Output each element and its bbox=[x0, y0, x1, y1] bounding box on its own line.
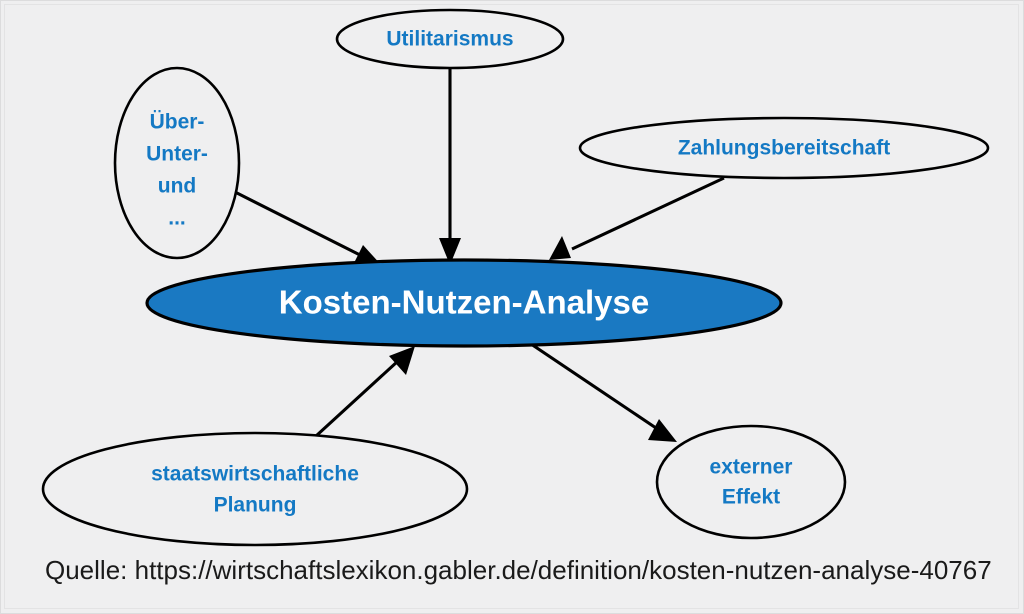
node-externer-effekt[interactable]: externer Effekt bbox=[657, 426, 845, 538]
node-externer-effekt-label-line2: Effekt bbox=[722, 486, 780, 509]
edge-line-zahlungsbereitschaft bbox=[572, 178, 724, 249]
edge-center-to-externer-effekt bbox=[531, 344, 677, 442]
node-ueber-unter-und-label-line1: Über- bbox=[150, 111, 205, 134]
node-kosten-nutzen-analyse[interactable]: Kosten-Nutzen-Analyse bbox=[147, 260, 781, 346]
node-utilitarismus[interactable]: Utilitarismus bbox=[337, 10, 563, 68]
node-staatswirtschaftliche-planung-label-line1: staatswirtschaftliche bbox=[151, 463, 359, 486]
node-externer-effekt-label-line1: externer bbox=[710, 456, 793, 479]
node-externer-effekt-shape[interactable] bbox=[657, 426, 845, 538]
edge-line-ueber-unter bbox=[233, 191, 362, 256]
node-staatswirtschaftliche-planung-shape[interactable] bbox=[43, 433, 467, 545]
node-ueber-unter-und-label-line4: ... bbox=[168, 207, 186, 230]
node-utilitarismus-label: Utilitarismus bbox=[386, 28, 513, 51]
node-staatswirtschaftliche-planung[interactable]: staatswirtschaftliche Planung bbox=[43, 433, 467, 545]
arrowhead-externer-effekt bbox=[648, 419, 677, 442]
node-zahlungsbereitschaft-label: Zahlungsbereitschaft bbox=[678, 137, 890, 160]
node-ueber-unter-und[interactable]: Über- Unter- und ... bbox=[115, 68, 239, 258]
source-caption: Quelle: https://wirtschaftslexikon.gable… bbox=[45, 555, 992, 585]
arrowhead-zahlungsbereitschaft bbox=[549, 236, 571, 260]
diagram-canvas: Utilitarismus Über- Unter- und ... Zahlu… bbox=[0, 0, 1024, 614]
node-kosten-nutzen-analyse-label: Kosten-Nutzen-Analyse bbox=[279, 284, 649, 321]
edge-ueber-unter-to-center bbox=[233, 191, 383, 267]
concept-map-svg: Utilitarismus Über- Unter- und ... Zahlu… bbox=[0, 0, 1024, 614]
arrowhead-staatswirtschaftliche-planung bbox=[389, 346, 415, 375]
edge-zahlungsbereitschaft-to-center bbox=[549, 178, 724, 260]
edge-utilitarismus-to-center bbox=[439, 68, 461, 265]
edge-staatswirtschaftliche-planung-to-center bbox=[316, 346, 415, 436]
edge-line-externer-effekt bbox=[531, 344, 656, 428]
node-ueber-unter-und-label-line2: Unter- bbox=[146, 143, 208, 166]
edge-line-staatswirtschaftliche-planung bbox=[316, 361, 398, 436]
node-ueber-unter-und-label-line3: und bbox=[158, 175, 196, 198]
node-staatswirtschaftliche-planung-label-line2: Planung bbox=[214, 494, 297, 517]
node-zahlungsbereitschaft[interactable]: Zahlungsbereitschaft bbox=[580, 118, 988, 178]
